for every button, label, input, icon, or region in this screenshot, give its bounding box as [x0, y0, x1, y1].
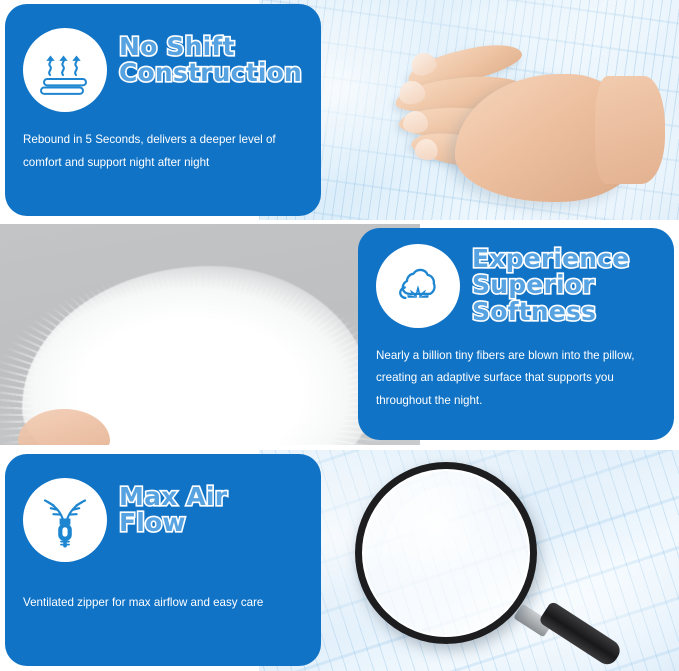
- feature-card-header: Max Air Flow: [23, 478, 311, 562]
- airflow-over-mattress-icon: [23, 28, 107, 112]
- ring-fingernail: [403, 111, 428, 133]
- feature-card-header: No Shift Construction: [23, 28, 311, 112]
- feature-description: Rebound in 5 Seconds, delivers a deeper …: [23, 129, 305, 174]
- feature-card-max-air-flow: Max Air Flow Ventilated zipper for max a…: [5, 454, 321, 666]
- feature-row-no-shift-construction: No Shift Construction Rebound in 5 Secon…: [0, 0, 679, 220]
- white-fiber-cluster-photo: [0, 224, 420, 445]
- feature-description: Nearly a billion tiny fibers are blown i…: [376, 345, 658, 413]
- feature-row-experience-superior-softness: Experience Superior Softness Nearly a bi…: [0, 224, 679, 445]
- feature-card-no-shift-construction: No Shift Construction Rebound in 5 Secon…: [5, 4, 321, 216]
- zipper-icon: [23, 478, 107, 562]
- magnifier-glare: [382, 485, 524, 635]
- feature-row-max-air-flow: Max Air Flow Ventilated zipper for max a…: [0, 450, 679, 671]
- cotton-boll-icon: [376, 244, 460, 328]
- feature-card-experience-superior-softness: Experience Superior Softness Nearly a bi…: [358, 228, 674, 440]
- feature-card-header: Experience Superior Softness: [376, 244, 664, 328]
- feature-title: Max Air Flow: [119, 478, 227, 537]
- hand-illustration: [377, 36, 647, 211]
- feature-description: Ventilated zipper for max airflow and ea…: [23, 592, 305, 615]
- magnifier-handle: [538, 601, 624, 669]
- magnifier-on-fabric-photo: [259, 450, 679, 671]
- feature-title: Experience Superior Softness: [472, 244, 629, 325]
- magnifier-lens: [355, 462, 537, 644]
- hand-pressing-pillow-photo: [259, 0, 679, 220]
- wrist: [595, 76, 665, 184]
- product-feature-infographic: No Shift Construction Rebound in 5 Secon…: [0, 0, 679, 671]
- feature-title: No Shift Construction: [119, 28, 302, 87]
- magnifying-glass: [355, 462, 625, 671]
